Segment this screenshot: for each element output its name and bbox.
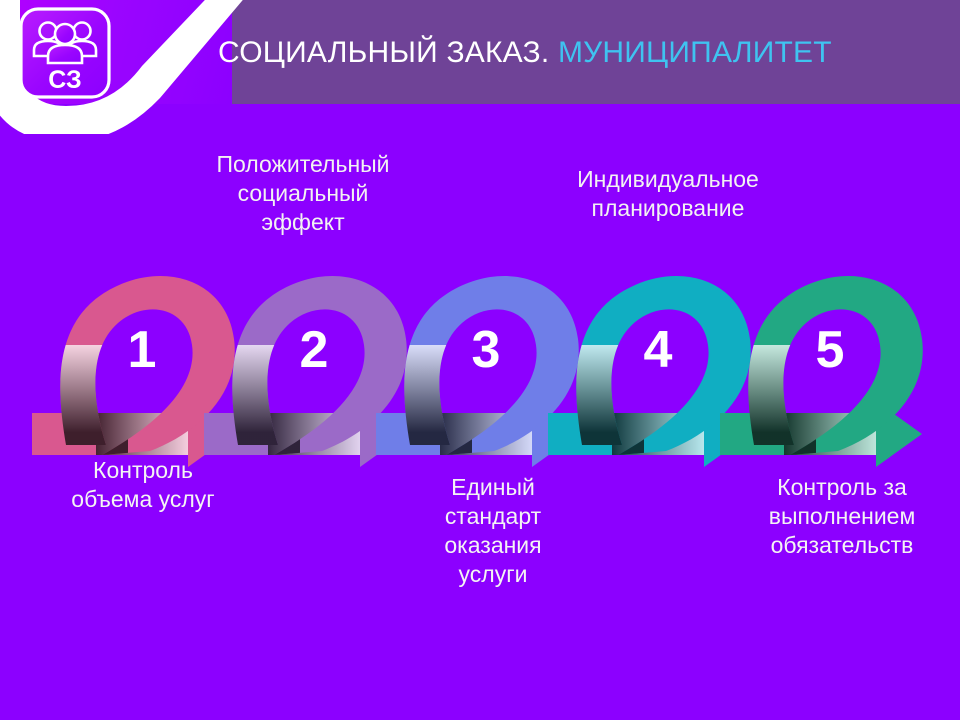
caption-volume-control: Контроль объема услуг	[28, 456, 258, 514]
process-step-5[interactable]: 5	[720, 276, 923, 467]
logo-abbreviation: СЗ	[48, 66, 81, 94]
sz-logo[interactable]: СЗ	[18, 6, 112, 100]
step-number: 5	[816, 321, 845, 379]
callout-individual-planning: Индивидуальное планирование	[528, 165, 808, 223]
slide-canvas: СЗ СОЦИАЛЬНЫЙ ЗАКАЗ. МУНИЦИПАЛИТЕТ Полож…	[0, 0, 960, 720]
caption-obligations-control: Контроль за выполнением обязательств	[724, 473, 960, 560]
page-title-accent: МУНИЦИПАЛИТЕТ	[558, 36, 832, 69]
page-title-main: СОЦИАЛЬНЫЙ ЗАКАЗ.	[218, 36, 549, 69]
page-title: СОЦИАЛЬНЫЙ ЗАКАЗ. МУНИЦИПАЛИТЕТ	[218, 30, 948, 76]
step-number: 1	[128, 321, 157, 379]
step-number: 2	[300, 321, 329, 379]
callout-positive-effect: Положительный социальный эффект	[168, 150, 438, 237]
step-number: 3	[472, 321, 501, 379]
step-number: 4	[644, 321, 673, 379]
process-ribbon-row: 12345	[0, 255, 960, 470]
caption-single-standard: Единый стандарт оказания услуги	[388, 473, 598, 589]
